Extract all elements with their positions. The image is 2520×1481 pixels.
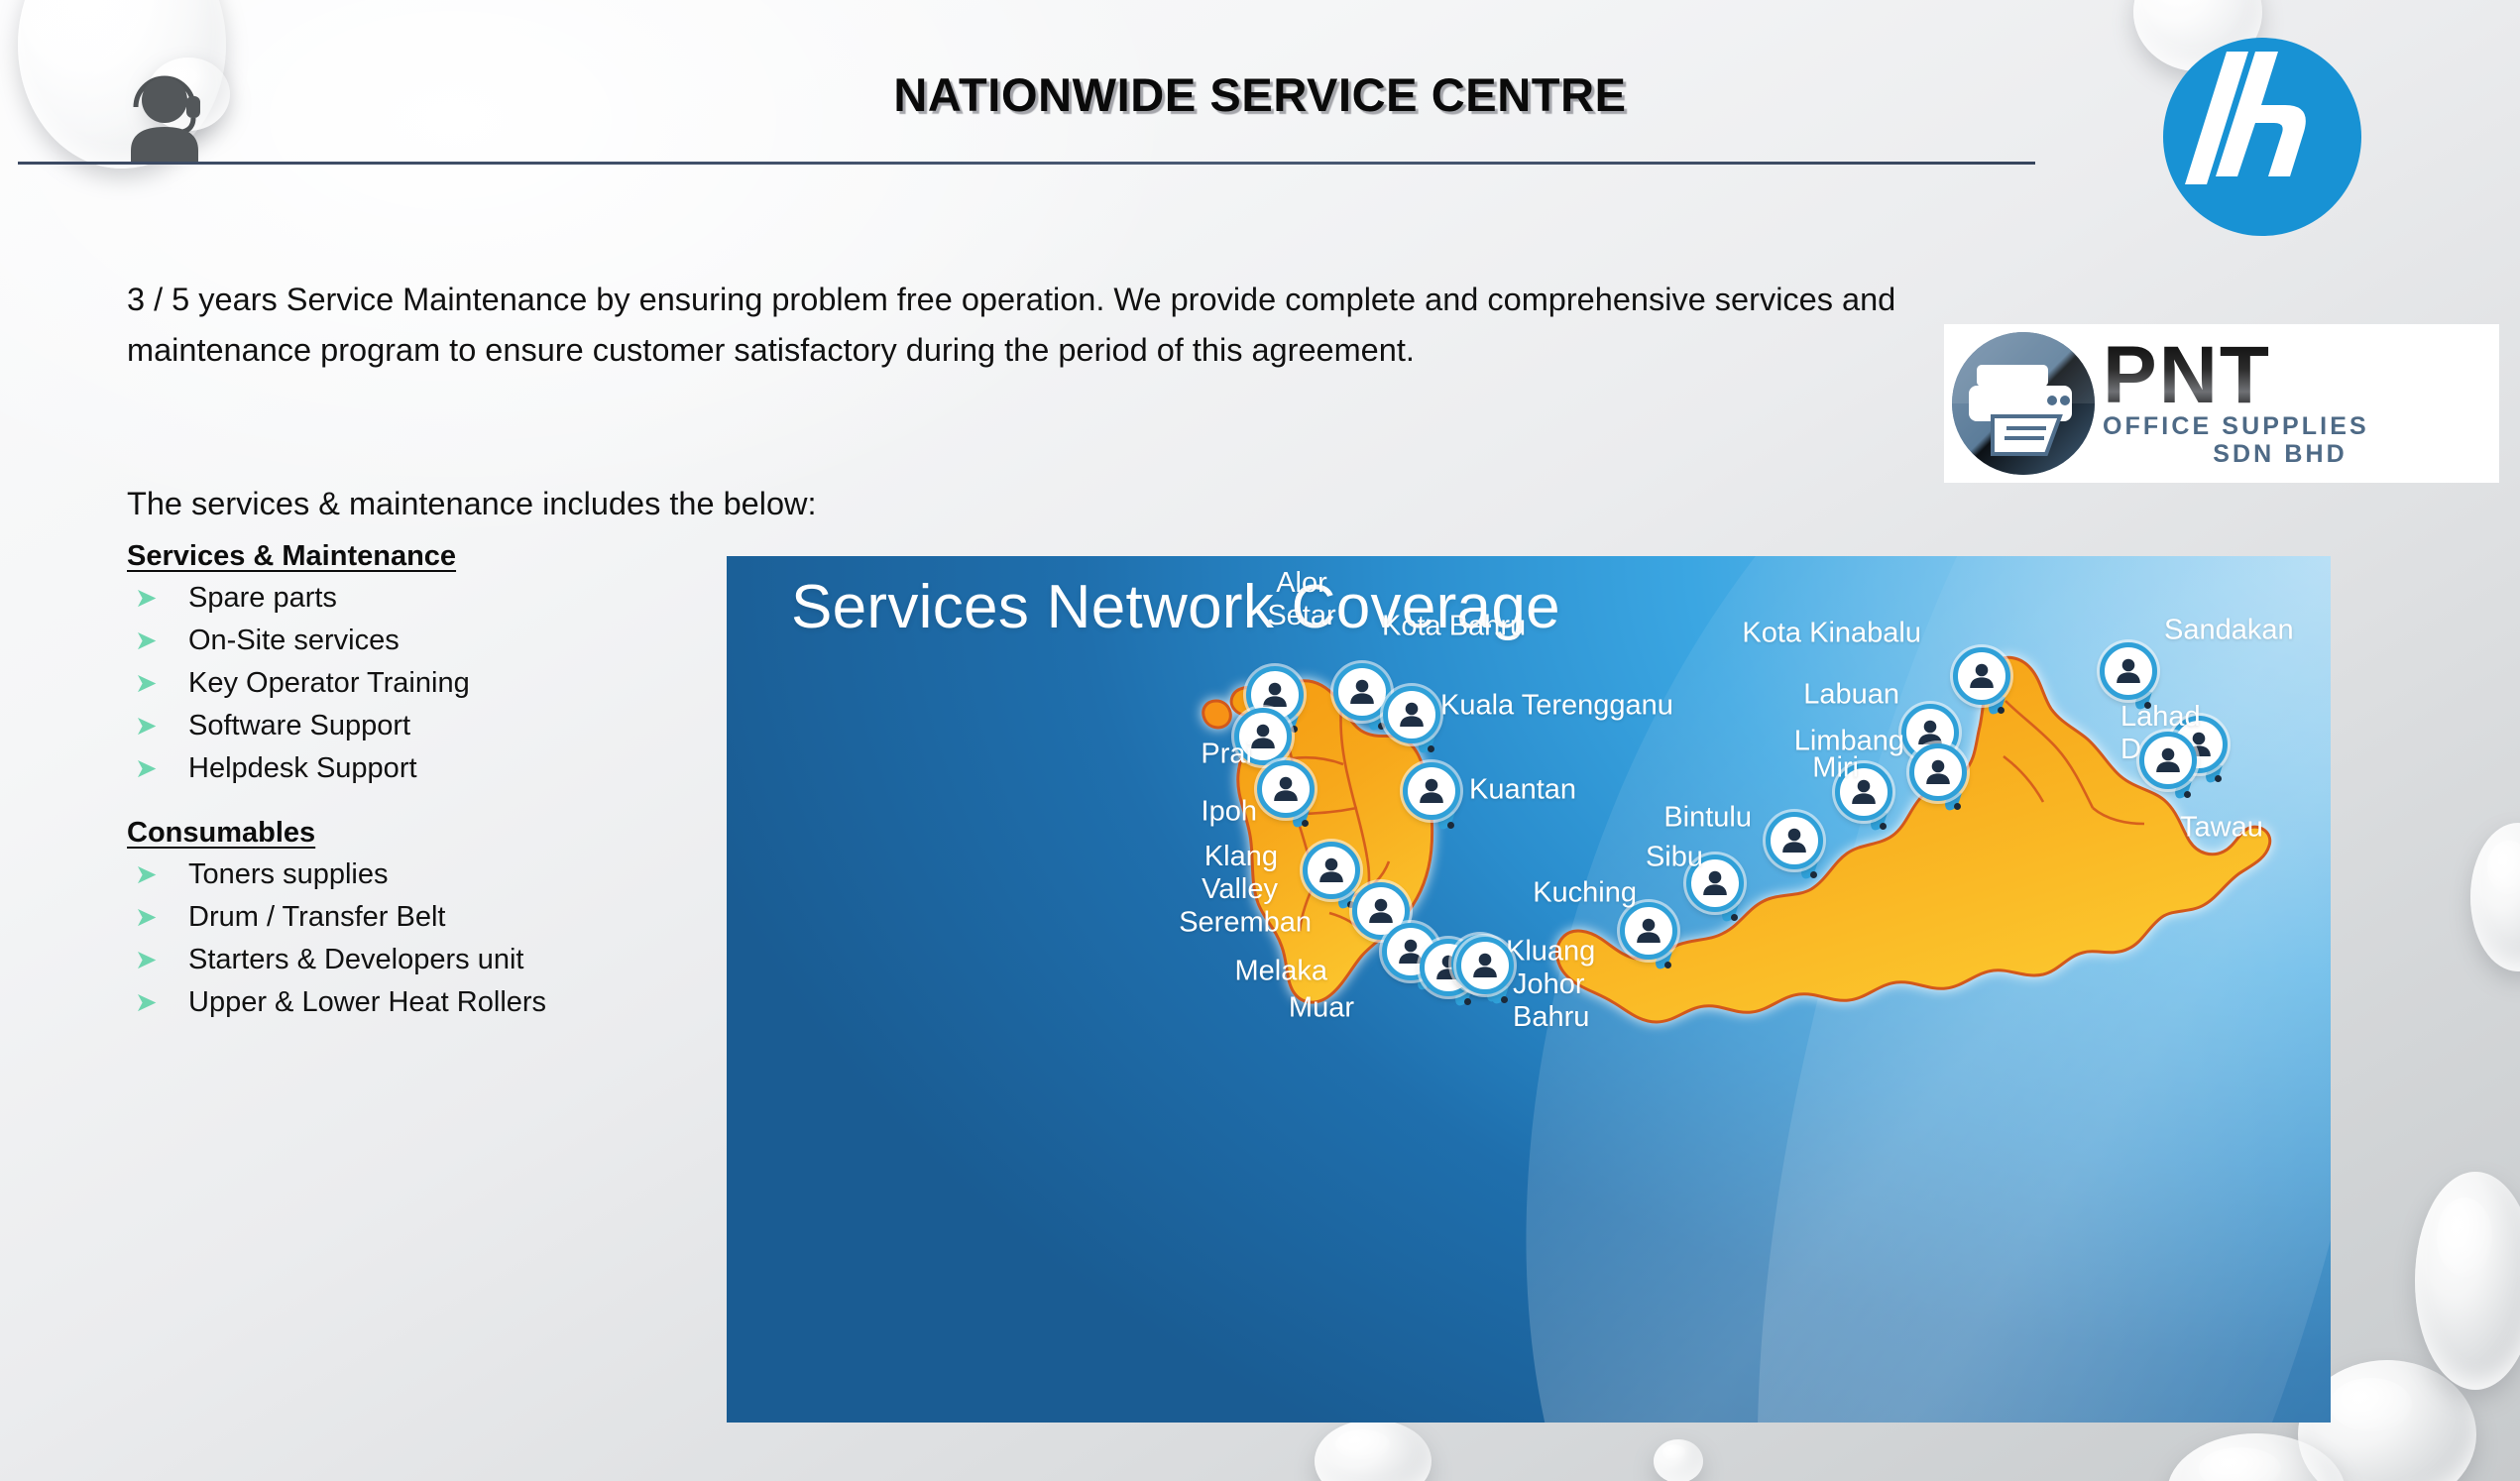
map-marker-ipoh[interactable] [1257,760,1315,818]
services-network-map: Services Network Coverage [727,556,2331,1423]
list-item-label: Upper & Lower Heat Rollers [188,986,801,1019]
decorative-bubble [1315,1420,1432,1481]
decorative-bubble [2415,1172,2520,1390]
city-label-johor-bahru: Johor Bahru [1513,968,1589,1034]
pnt-tagline-line1: OFFICE SUPPLIES [2103,412,2483,441]
arrow-bullet-icon: ➤ [127,755,188,782]
list-item-label: Drum / Transfer Belt [188,901,801,934]
printer-icon [1944,324,2103,483]
list-item-label: Starters & Developers unit [188,944,801,976]
list-item-label: Spare parts [188,582,801,615]
list-item: ➤Starters & Developers unit [127,944,801,976]
list-heading: Consumables [127,817,801,850]
map-marker-sandakan[interactable] [2100,642,2157,700]
service-person-icon [2100,642,2157,700]
city-label-muar: Muar [1289,992,1354,1025]
pnt-brand-text: PNT [2103,338,2483,412]
list-item: ➤Toners supplies [127,858,801,891]
decorative-bubble [2470,823,2520,971]
city-label-kuching: Kuching [1533,877,1637,910]
service-person-icon [1456,937,1514,994]
map-marker-bintulu[interactable] [1766,812,1823,869]
city-label-klang-valley: Klang Valley [1202,841,1278,906]
map-marker-kuantan[interactable] [1403,762,1460,820]
list-item-label: Key Operator Training [188,667,801,700]
pnt-logo: PNT OFFICE SUPPLIES SDN BHD [1944,324,2499,483]
map-marker-kuching[interactable] [1620,902,1677,960]
city-label-melaka: Melaka [1235,956,1328,988]
city-label-tawau: Tawau [2180,812,2263,845]
pnt-tagline-line2: SDN BHD [2103,440,2483,469]
arrow-bullet-icon: ➤ [127,904,188,931]
map-marker-kota-kinabalu[interactable] [1953,647,2010,705]
list-item: ➤Upper & Lower Heat Rollers [127,986,801,1019]
intro-paragraph: 3 / 5 years Service Maintenance by ensur… [127,275,1901,376]
city-label-bintulu: Bintulu [1663,802,1752,835]
city-label-prai: Prai [1201,739,1252,771]
list-heading: Services & Maintenance [127,540,801,573]
city-label-labuan: Labuan [1803,679,1899,712]
city-label-seremban: Seremban [1179,907,1312,940]
includes-line: The services & maintenance includes the … [127,486,817,522]
city-label-sibu: Sibu [1646,842,1703,874]
city-label-kuala-terengganu: Kuala Terengganu [1440,690,1673,723]
list-spacer [127,795,801,817]
decorative-bubble [1654,1439,1703,1481]
arrow-bullet-icon: ➤ [127,627,188,654]
service-person-icon [1953,647,2010,705]
city-label-miri: Miri [1812,752,1859,785]
map-marker-tawau[interactable] [2139,732,2197,789]
map-marker-limbang[interactable] [1909,743,1967,801]
list-item-label: On-Site services [188,625,801,657]
service-person-icon [2139,732,2197,789]
city-label-kuantan: Kuantan [1469,774,1576,807]
presentation-slide: NATIONWIDE SERVICE CENTRE [0,0,2520,1481]
list-item: ➤On-Site services [127,625,801,657]
city-label-kota-kinabalu: Kota Kinabalu [1742,618,1921,650]
city-label-kluang: Kluang [1506,936,1595,968]
list-item: ➤Key Operator Training [127,667,801,700]
city-label-alor-setar: Alor Setar [1267,567,1335,632]
list-item: ➤Helpdesk Support [127,752,801,785]
list-item: ➤Software Support [127,710,801,742]
title-divider [18,162,2035,165]
list-item: ➤Spare parts [127,582,801,615]
service-person-icon [1766,812,1823,869]
arrow-bullet-icon: ➤ [127,713,188,740]
arrow-bullet-icon: ➤ [127,947,188,973]
city-label-sandakan: Sandakan [2164,615,2294,647]
map-marker-johor-bahru[interactable] [1456,937,1514,994]
list-item-label: Software Support [188,710,801,742]
service-person-icon [1909,743,1967,801]
map-marker-kuala-terengganu[interactable] [1383,686,1440,743]
arrow-bullet-icon: ➤ [127,861,188,888]
city-label-kota-bahru: Kota Bahru [1382,611,1526,643]
hp-logo [2163,38,2361,236]
arrow-bullet-icon: ➤ [127,585,188,612]
service-person-icon [1403,762,1460,820]
city-label-ipoh: Ipoh [1202,796,1257,829]
service-person-icon [1620,902,1677,960]
service-lists: Services & Maintenance➤Spare parts➤On-Si… [127,540,801,1029]
arrow-bullet-icon: ➤ [127,989,188,1016]
arrow-bullet-icon: ➤ [127,670,188,697]
page-title: NATIONWIDE SERVICE CENTRE [0,67,2520,122]
decorative-bubble [2167,1433,2346,1481]
list-item-label: Toners supplies [188,858,801,891]
list-item: ➤Drum / Transfer Belt [127,901,801,934]
service-person-icon [1257,760,1315,818]
service-person-icon [1383,686,1440,743]
list-item-label: Helpdesk Support [188,752,801,785]
